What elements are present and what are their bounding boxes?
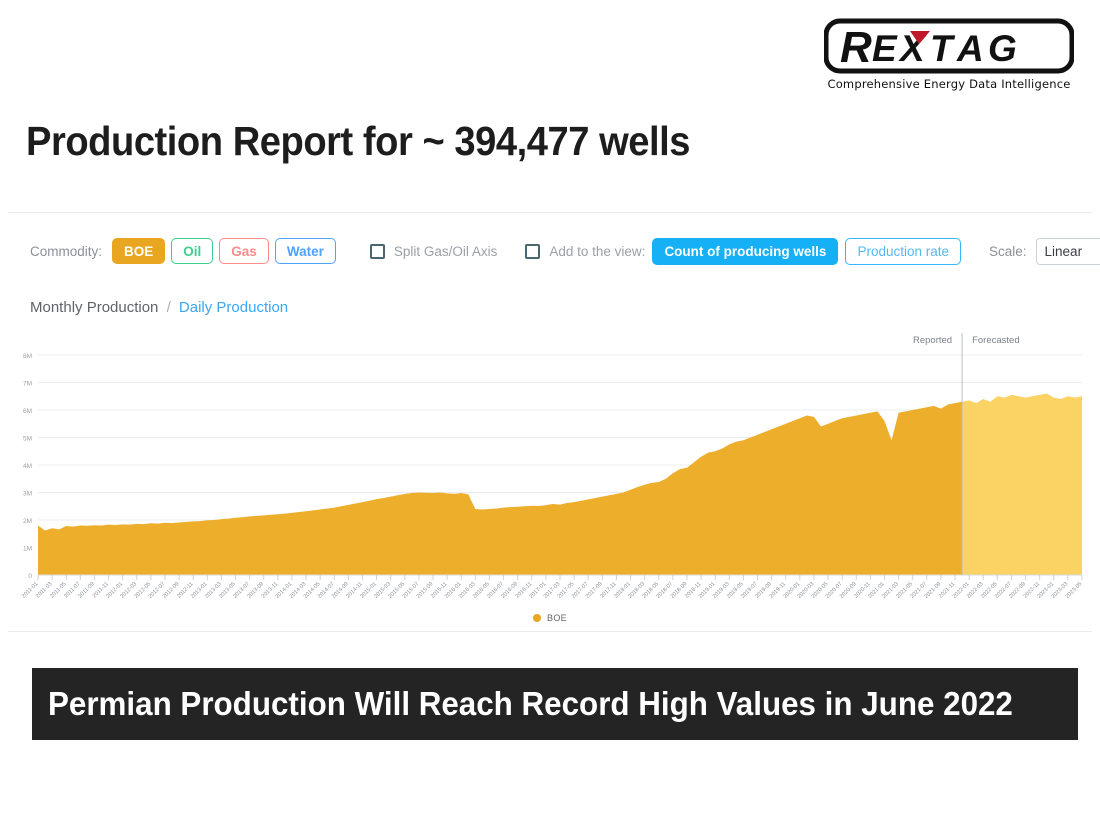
annotation-forecasted: Forecasted: [972, 335, 1020, 346]
y-axis-tick-label: 7M: [23, 381, 32, 388]
breadcrumb-monthly-production[interactable]: Monthly Production: [30, 299, 158, 316]
scale-group: Scale: Linear: [989, 238, 1100, 265]
scale-label: Scale:: [989, 244, 1027, 259]
commodity-button-oil[interactable]: Oil: [171, 238, 213, 264]
brand-logo: R E X T A G Comprehensive Energy Data In…: [824, 18, 1074, 100]
production-area-chart-svg[interactable]: 01M2M3M4M5M6M7M8MReportedForecasted2011-…: [8, 325, 1092, 625]
production-chart[interactable]: 01M2M3M4M5M6M7M8MReportedForecasted2011-…: [8, 325, 1092, 625]
chart-toolbar: Commodity: BOE Oil Gas Water Split Gas/O…: [8, 231, 1092, 271]
svg-text:T: T: [930, 28, 956, 69]
split-gas-oil-axis-checkbox[interactable]: [370, 244, 385, 259]
brand-tagline: Comprehensive Energy Data Intelligence: [827, 77, 1070, 91]
legend-label-boe: BOE: [547, 613, 567, 623]
y-axis-tick-label: 6M: [23, 408, 32, 415]
split-gas-oil-axis-label: Split Gas/Oil Axis: [394, 244, 498, 259]
y-axis-tick-label: 0: [28, 573, 32, 580]
y-axis-tick-label: 1M: [23, 546, 32, 553]
report-panel: Commodity: BOE Oil Gas Water Split Gas/O…: [8, 212, 1092, 632]
y-axis-tick-label: 8M: [23, 353, 32, 360]
view-option-count-of-producing-wells[interactable]: Count of producing wells: [652, 238, 838, 265]
commodity-button-water[interactable]: Water: [275, 238, 336, 264]
annotation-reported: Reported: [913, 335, 952, 346]
svg-text:R: R: [840, 23, 872, 72]
breadcrumb-separator: /: [167, 299, 171, 316]
view-option-production-rate[interactable]: Production rate: [845, 238, 961, 265]
breadcrumb: Monthly Production / Daily Production: [30, 299, 288, 316]
add-to-view-checkbox[interactable]: [525, 244, 540, 259]
area-series-boe-reported: [38, 402, 962, 575]
commodity-label: Commodity:: [30, 244, 102, 259]
svg-text:A: A: [956, 28, 984, 69]
svg-text:G: G: [988, 28, 1017, 69]
y-axis-tick-label: 4M: [23, 463, 32, 470]
chart-legend: BOE: [8, 613, 1092, 623]
legend-color-swatch-boe: [533, 614, 541, 622]
add-to-view-group[interactable]: Add to the view:: [525, 244, 645, 259]
y-axis-tick-label: 5M: [23, 436, 32, 443]
rextag-logo-icon: R E X T A G: [824, 18, 1074, 76]
scale-select[interactable]: Linear: [1036, 238, 1100, 265]
scale-select-value: Linear: [1045, 244, 1083, 259]
add-to-view-label: Add to the view:: [549, 244, 645, 259]
area-series-boe-forecasted: [962, 394, 1082, 576]
page-title: Production Report for ~ 394,477 wells: [26, 118, 690, 165]
breadcrumb-daily-production[interactable]: Daily Production: [179, 299, 288, 316]
commodity-button-boe[interactable]: BOE: [112, 238, 165, 264]
commodity-button-gas[interactable]: Gas: [219, 238, 269, 264]
headline-banner-text: Permian Production Will Reach Record Hig…: [48, 685, 1013, 723]
y-axis-tick-label: 3M: [23, 491, 32, 498]
headline-banner: Permian Production Will Reach Record Hig…: [32, 668, 1078, 740]
split-gas-oil-axis-group[interactable]: Split Gas/Oil Axis: [370, 244, 498, 259]
y-axis-tick-label: 2M: [23, 518, 32, 525]
svg-text:E: E: [872, 28, 898, 69]
